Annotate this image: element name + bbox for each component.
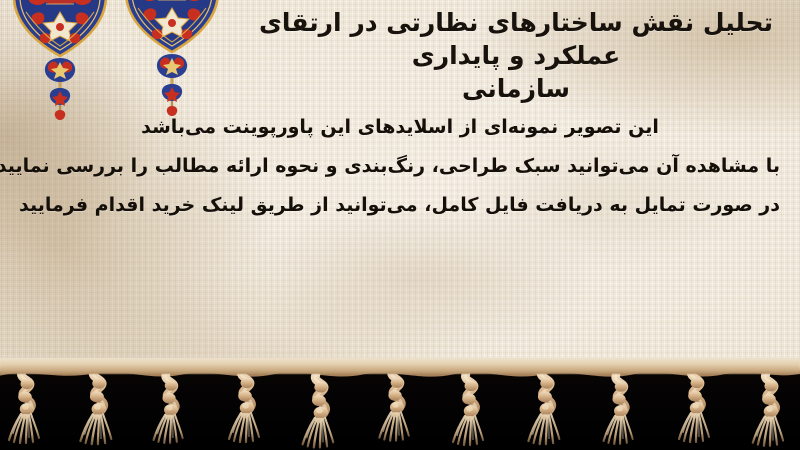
medallion-left-icon	[14, 0, 106, 56]
slide-title-line-2: سازمانی	[240, 72, 792, 105]
carpet-selvedge	[0, 358, 800, 374]
slide-body-line-3: در صورت تمایل به دریافت فایل کامل، می‌تو…	[20, 186, 780, 225]
slide-body: این تصویر نمونه‌ای از اسلایدهای این پاور…	[20, 108, 780, 225]
carpet-fringe	[0, 358, 800, 450]
slide-title: تحلیل نقش ساختارهای نظارتی در ارتقای عمل…	[240, 6, 792, 105]
slide-body-line-2: با مشاهده آن می‌توانید سبک طراحی، رنگ‌بن…	[20, 147, 780, 186]
slide-title-line-1: تحلیل نقش ساختارهای نظارتی در ارتقای عمل…	[240, 6, 792, 72]
pendant-right-icon	[157, 54, 187, 116]
presentation-slide: تحلیل نقش ساختارهای نظارتی در ارتقای عمل…	[0, 0, 800, 450]
medallion-right-icon	[126, 0, 218, 52]
slide-body-line-1: این تصویر نمونه‌ای از اسلایدهای این پاور…	[20, 108, 780, 147]
